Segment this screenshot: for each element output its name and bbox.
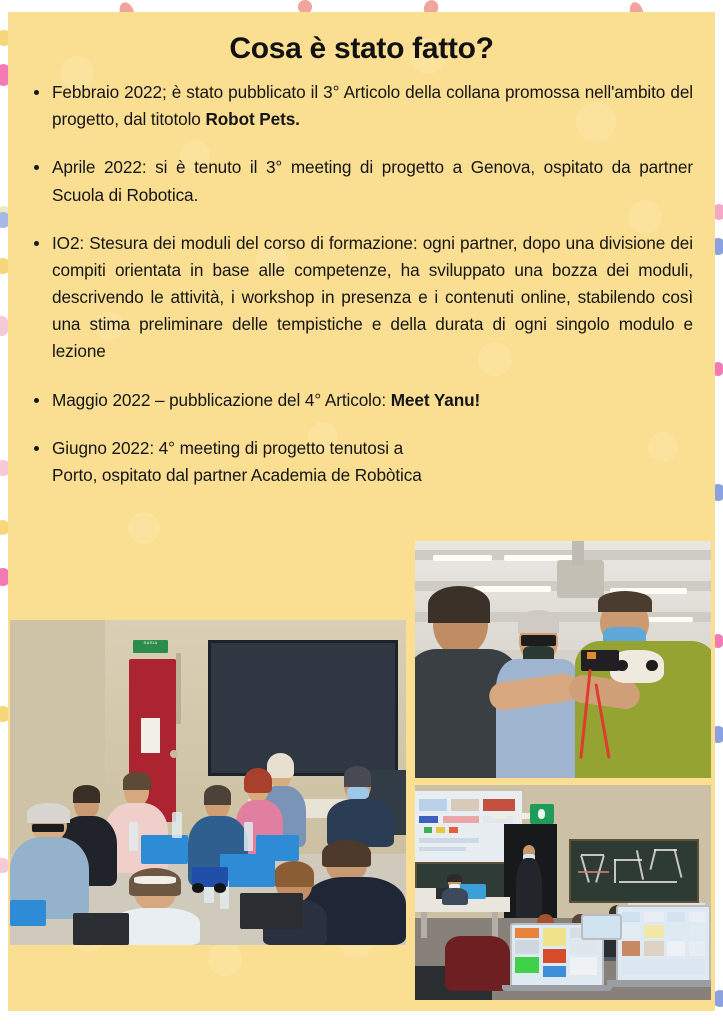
bullet-maggio-2022: Maggio 2022 – pubblicazione del 4° Artic…: [32, 387, 693, 414]
page-title: Cosa è stato fatto?: [8, 32, 715, 65]
bullet-marker-icon: [34, 241, 39, 246]
exit-sign-label: SAÍDA: [133, 640, 169, 651]
laptop: [73, 913, 128, 946]
bullet-marker-icon: [34, 90, 39, 95]
bullet-text: IO2: Stesura dei moduli del corso di for…: [52, 233, 693, 362]
robot-kit-box: [256, 835, 300, 861]
bullet-giugno-2022: Giugno 2022: 4° meeting di progetto tenu…: [32, 435, 422, 489]
robot-kit-box: [10, 900, 46, 926]
bullet-febbraio-2022: Febbraio 2022; è stato pubblicato il 3° …: [32, 79, 693, 133]
bullet-marker-icon: [34, 446, 39, 451]
bullet-text: Giugno 2022: 4° meeting di progetto tenu…: [52, 438, 422, 485]
photo-workshop-laptops: Workshop room with projector screen, bla…: [415, 785, 711, 1000]
laptop: [240, 893, 303, 929]
bullet-aprile-2022: Aprile 2022: si è tenuto il 3° meeting d…: [32, 154, 693, 208]
running-man-icon: [538, 809, 546, 820]
photo-meeting-classroom: Participants seated at desks in a classr…: [10, 620, 406, 945]
robot-kit-box: [141, 835, 189, 864]
bullet-text: Febbraio 2022; è stato pubblicato il 3° …: [52, 82, 693, 129]
jacket-on-chair: [445, 936, 510, 992]
bullet-bold-text: Robot Pets.: [205, 109, 299, 129]
bullet-marker-icon: [34, 398, 39, 403]
bullet-text: Maggio 2022 – pubblicazione del 4° Artic…: [52, 390, 391, 410]
bullet-marker-icon: [34, 165, 39, 170]
blackboard-with-sketches: [569, 839, 699, 904]
bullet-bold-text: Meet Yanu!: [391, 390, 480, 410]
bullet-io2-moduli: IO2: Stesura dei moduli del corso di for…: [32, 230, 693, 366]
bullet-text: Aprile 2022: si è tenuto il 3° meeting d…: [52, 157, 693, 204]
presenter: [516, 845, 543, 922]
laptop: [616, 905, 711, 982]
laptop: [581, 914, 622, 940]
photo-robot-pet-demo: Three men in face masks examining a smal…: [415, 541, 711, 778]
timeline-bullet-list: Febbraio 2022; è stato pubblicato il 3° …: [8, 65, 715, 489]
